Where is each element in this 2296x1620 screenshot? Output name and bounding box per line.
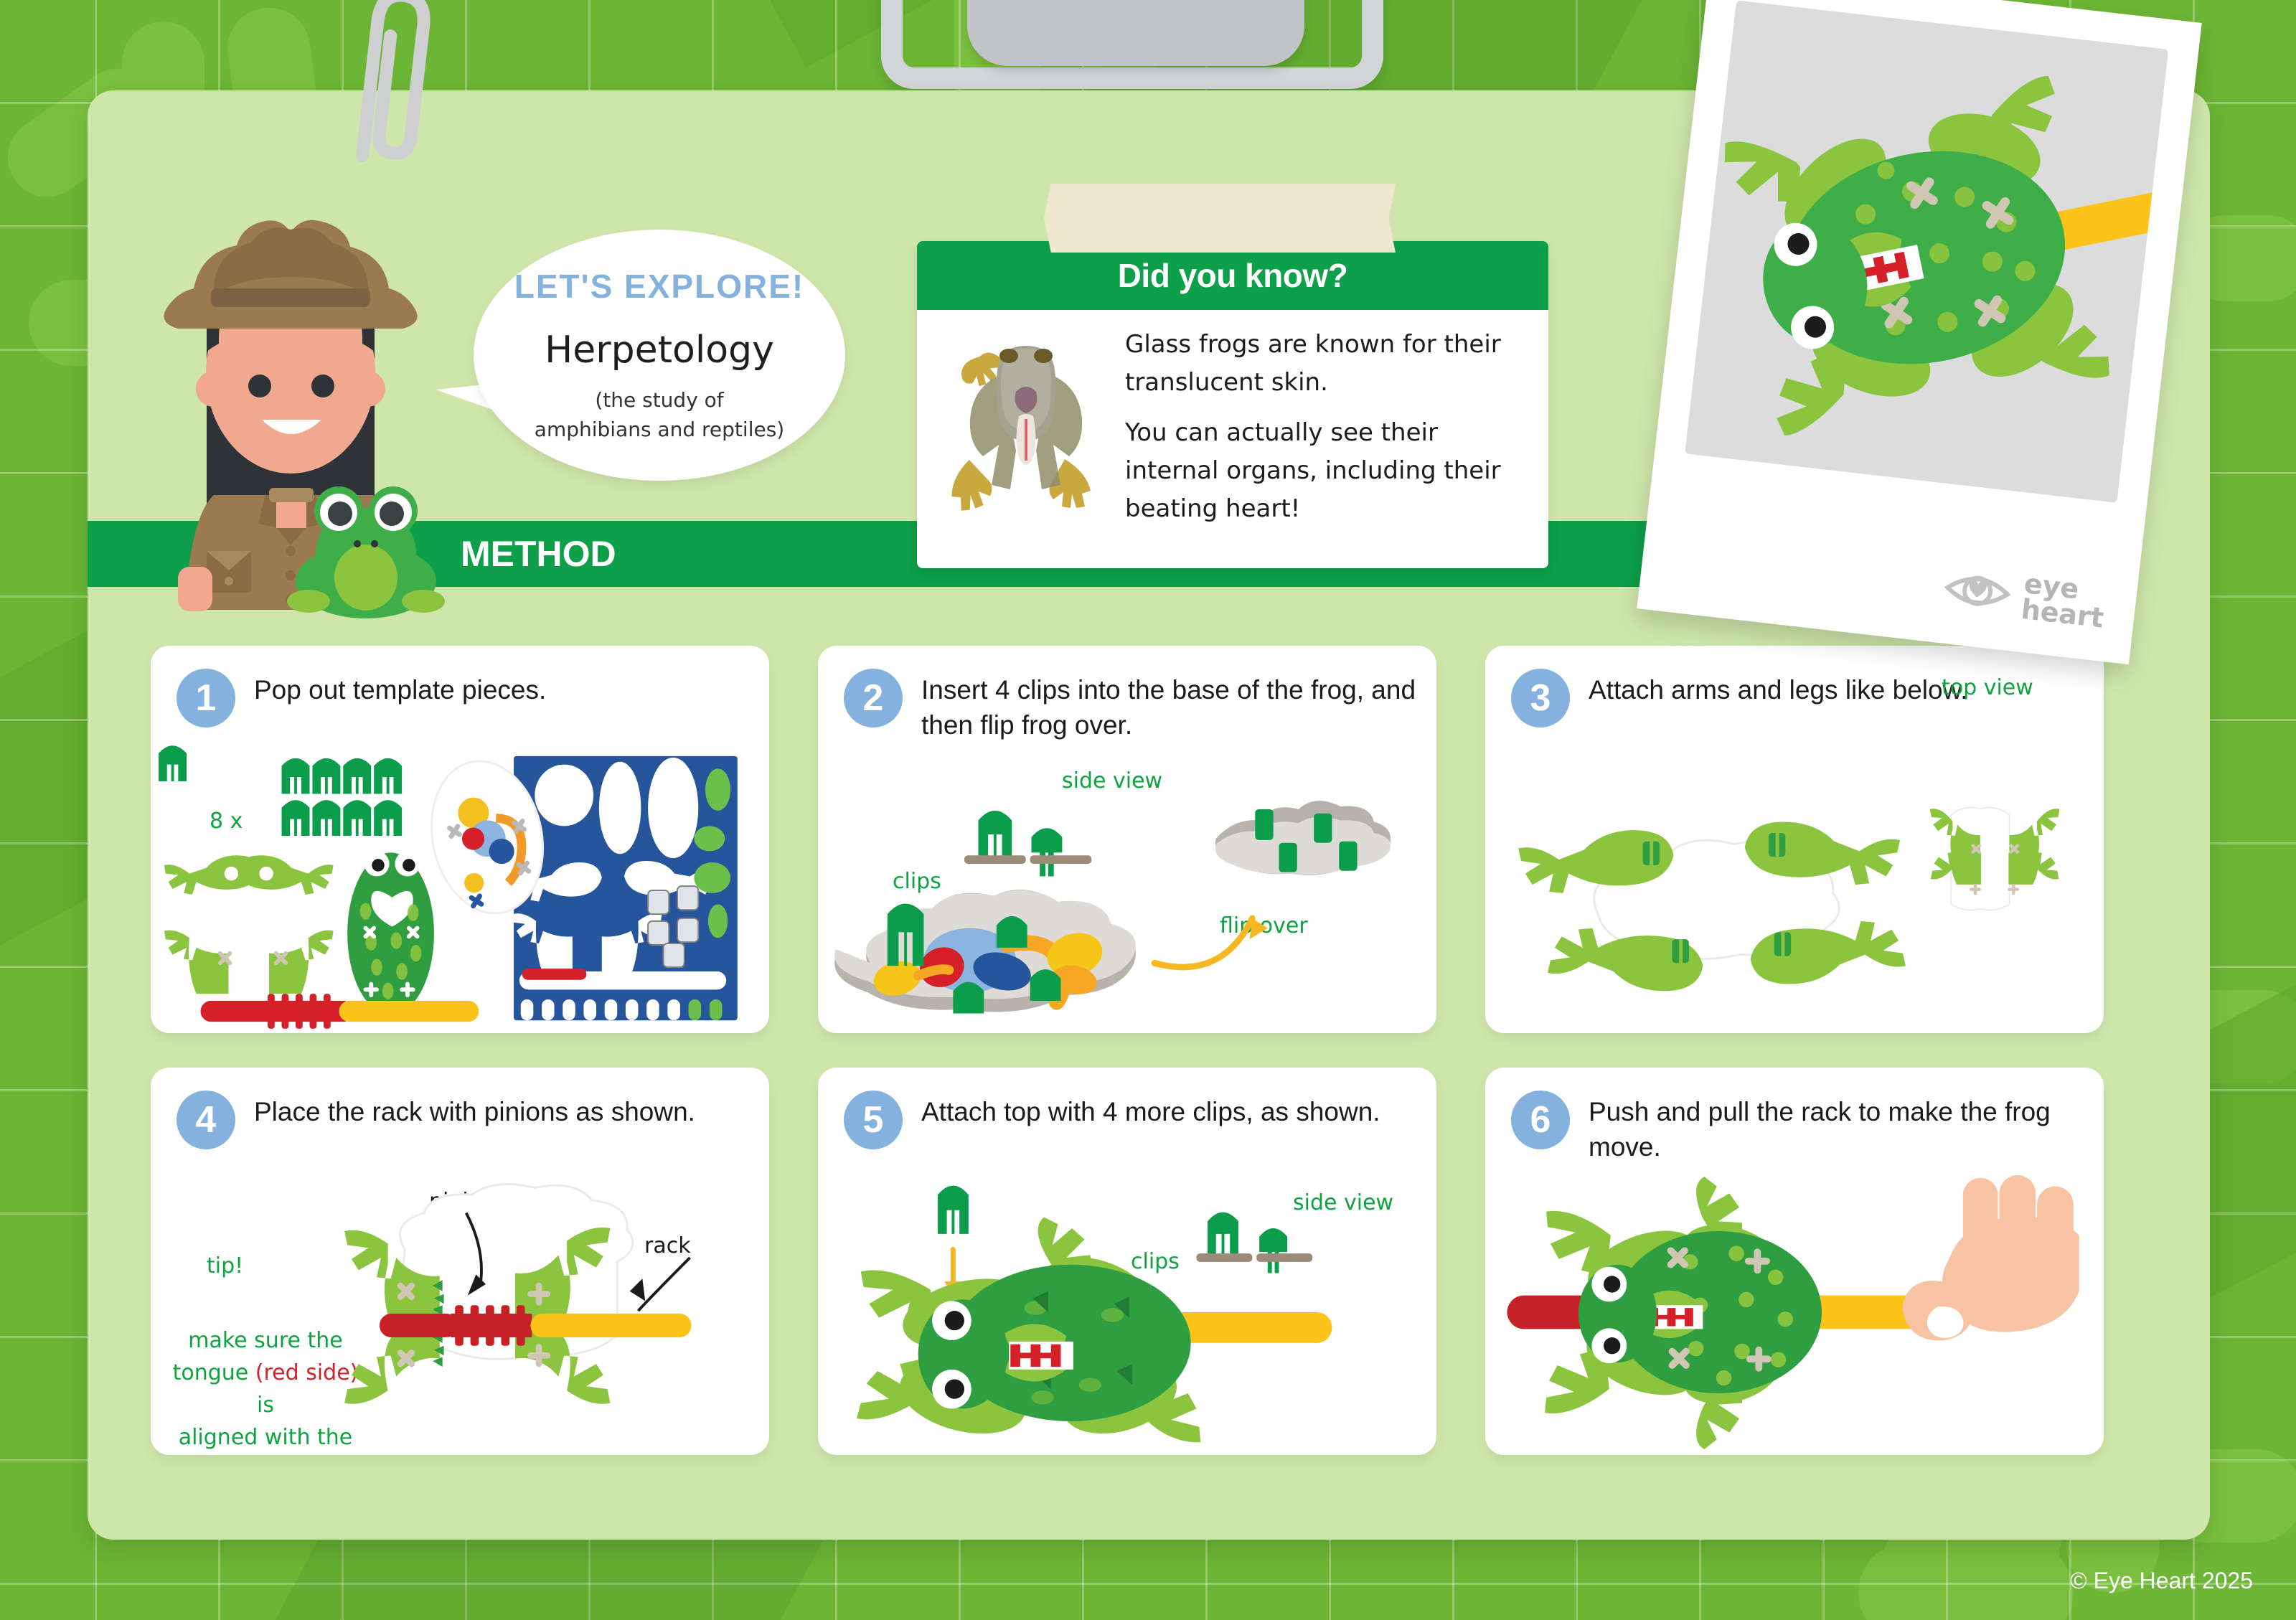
masking-tape-icon xyxy=(1044,184,1396,253)
step-2-illustration xyxy=(818,753,1436,1026)
step-text-5: Attach top with 4 more clips, as shown. xyxy=(921,1095,1418,1130)
topic-name: Herpetology xyxy=(474,329,845,372)
eye-heart-wordmark: eye heart xyxy=(2020,570,2108,631)
top-view-label-step3: top view xyxy=(1942,672,2033,704)
finished-frog-model-illustration xyxy=(1685,0,2168,503)
did-you-know-paragraph-1: Glass frogs are known for their transluc… xyxy=(1125,326,1524,401)
step-art-5: clips side view xyxy=(818,1175,1436,1448)
step-art-6 xyxy=(1485,1175,2104,1448)
did-you-know-card: Did you know? Glass frogs are known for … xyxy=(917,241,1548,568)
method-label: METHOD xyxy=(461,533,616,575)
logo-line-2: heart xyxy=(2020,596,2105,631)
step-card-3: 3 Attach arms and legs like below. top v… xyxy=(1485,646,2104,1033)
step-number-3: 3 xyxy=(1511,669,1570,727)
did-you-know-paragraph-2: You can actually see their internal orga… xyxy=(1125,414,1524,527)
step-text-1: Pop out template pieces. xyxy=(254,673,751,708)
step-number-5: 5 xyxy=(844,1091,903,1149)
topic-description-line-2: amphibians and reptiles) xyxy=(505,415,814,445)
eye-heart-icon xyxy=(1942,565,2013,617)
eye-heart-logo: eye heart xyxy=(1942,561,2108,631)
polaroid-photo-area xyxy=(1685,0,2168,503)
step-1-parts-illustration xyxy=(151,753,769,1026)
step-art-1: 8 x xyxy=(151,753,769,1026)
step-text-4: Place the rack with pinions as shown. xyxy=(254,1095,751,1130)
step-card-6: 6 Push and pull the rack to make the fro… xyxy=(1485,1068,2104,1455)
step-3-illustration xyxy=(1485,753,2104,1026)
step-art-2: clips side view flip over xyxy=(818,753,1436,1026)
copyright-notice: © Eye Heart 2025 xyxy=(2070,1568,2253,1594)
step-art-4: pinion rack tip! make sure the tongue (r… xyxy=(151,1175,769,1448)
step-art-3 xyxy=(1485,753,2104,1026)
step-number-2: 2 xyxy=(844,669,903,727)
step-card-2: 2 Insert 4 clips into the base of the fr… xyxy=(818,646,1436,1033)
step-card-5: 5 Attach top with 4 more clips, as shown… xyxy=(818,1068,1436,1455)
speech-bubble: LET'S EXPLORE! Herpetology (the study of… xyxy=(474,230,845,481)
step-number-1: 1 xyxy=(177,669,235,727)
clipboard-handle-clamp-icon xyxy=(967,0,1304,66)
step-5-illustration xyxy=(818,1175,1436,1448)
topic-description-line-1: (the study of xyxy=(505,386,814,415)
step-6-illustration xyxy=(1485,1175,2104,1448)
lets-explore-text: LET'S EXPLORE! xyxy=(514,267,804,306)
step-text-6: Push and pull the rack to make the frog … xyxy=(1589,1095,2085,1165)
method-steps-grid: 1 Pop out template pieces. 8 x xyxy=(151,646,2152,1456)
did-you-know-body: Glass frogs are known for their transluc… xyxy=(1125,326,1524,527)
step-4-illustration xyxy=(151,1175,769,1448)
step-text-2: Insert 4 clips into the base of the frog… xyxy=(921,673,1418,743)
step-card-1: 1 Pop out template pieces. 8 x xyxy=(151,646,769,1033)
topic-description: (the study of amphibians and reptiles) xyxy=(505,386,814,444)
step-number-6: 6 xyxy=(1511,1091,1570,1149)
polaroid-photo-card: eye heart xyxy=(1637,0,2201,664)
glass-frog-photo xyxy=(947,333,1105,519)
lets-explore-banner: LET'S EXPLORE! xyxy=(474,267,845,306)
step-number-4: 4 xyxy=(177,1091,235,1149)
frog-mascot-icon xyxy=(287,474,445,617)
step-card-4: 4 Place the rack with pinions as shown. … xyxy=(151,1068,769,1455)
